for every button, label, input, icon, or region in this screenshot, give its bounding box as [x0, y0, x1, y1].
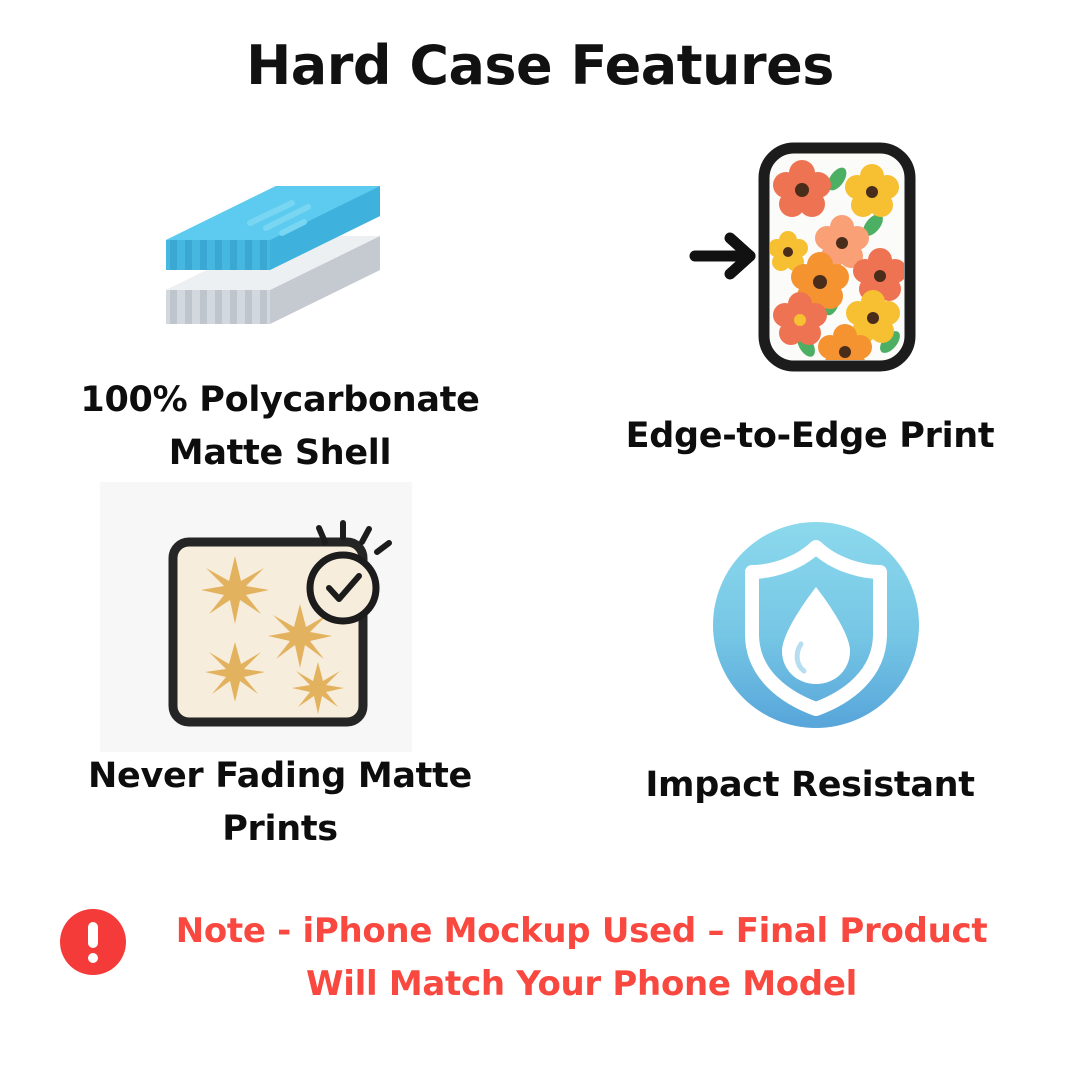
feature-caption-line-1: Impact Resistant	[560, 759, 1060, 812]
note-banner: Note - iPhone Mockup Used – Final Produc…	[60, 905, 1025, 1011]
feature-impact-resistant: Impact Resistant	[560, 510, 1060, 812]
feature-caption: Edge-to-Edge Print	[560, 410, 1060, 463]
feature-caption-line-2: Prints	[20, 803, 540, 856]
sparkle-card-check-icon	[20, 490, 540, 740]
exclamation-glyph	[88, 922, 98, 962]
shield-droplet-icon	[560, 510, 1060, 745]
feature-never-fading-prints: Never Fading Matte Prints	[20, 490, 540, 856]
arrow-right-icon	[695, 238, 750, 274]
feature-caption-line-1: 100% Polycarbonate	[20, 374, 540, 427]
page-title: Hard Case Features	[0, 34, 1080, 97]
feature-caption: Impact Resistant	[560, 759, 1060, 812]
feature-caption: 100% Polycarbonate Matte Shell	[20, 374, 540, 480]
feature-polycarbonate-shell: 100% Polycarbonate Matte Shell	[20, 160, 540, 480]
feature-caption-line-2: Matte Shell	[20, 427, 540, 480]
feature-caption: Never Fading Matte Prints	[20, 750, 540, 856]
note-text: Note - iPhone Mockup Used – Final Produc…	[142, 905, 1025, 1011]
floral-phone-case-icon	[560, 130, 1060, 380]
feature-caption-line-1: Edge-to-Edge Print	[560, 410, 1060, 463]
feature-caption-line-1: Never Fading Matte	[20, 750, 540, 803]
feature-infographic: Hard Case Features	[0, 0, 1080, 1080]
layered-slabs-icon	[20, 160, 540, 360]
exclamation-badge-icon	[60, 909, 126, 975]
feature-edge-to-edge-print: Edge-to-Edge Print	[560, 130, 1060, 463]
